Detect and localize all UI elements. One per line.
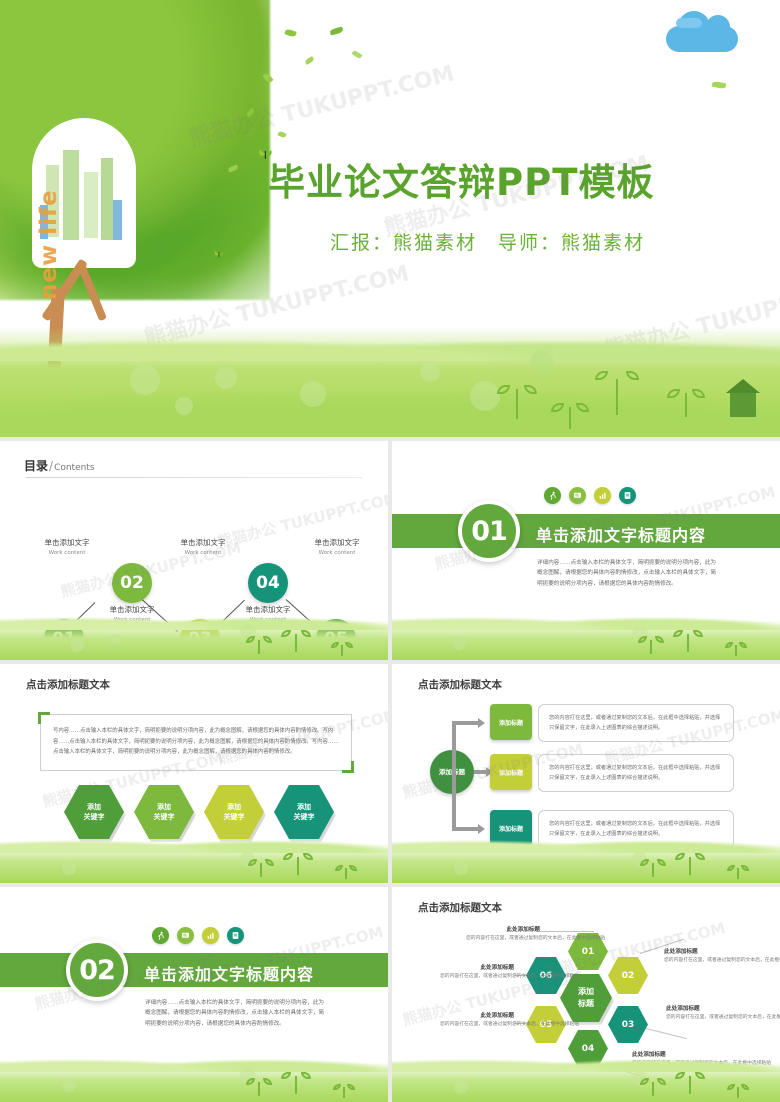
hexagon-line-2: 关键字 [154,812,175,823]
slide-branch-diagram[interactable]: 点击添加标题文本 添加标题 添加标题 添加标题 添加标题 您的内容打在这里，或者… [392,664,780,883]
sprout-icon [732,865,744,879]
step-label-sub: Work content [168,550,238,556]
step-label-sub: Work content [302,550,372,556]
trunk-word-art: new life [36,246,62,300]
grass-ground [0,1062,388,1102]
sprout-icon [288,630,304,652]
bar-chart-icon[interactable] [202,927,219,944]
grass-ground [392,843,780,883]
bokeh-circle [215,367,237,389]
sprout-icon [506,383,528,419]
grass-ground [392,1062,780,1102]
sprout-icon [340,865,352,879]
honeycomb-label-body: 您的内容打在这里，或者通过复制您的文本后，在此框中选择粘贴 [664,957,738,965]
building-shape [63,150,79,240]
honeycomb-cell-number: 01 [582,947,595,957]
ppt-template-preview-page: new life 毕业论文答辩PPT模板 汇报：熊猫素材 导师：熊猫素材 熊猫办… [0,0,780,1102]
divider-number: 01 [471,516,507,547]
branch-desc-text: 您的内容打在这里，或者通过复制您的文本后，在此框中选择粘贴，并选择只保留文字，在… [539,705,733,742]
honeycomb-cell-number: 04 [582,1044,595,1054]
bokeh-circle [454,1080,468,1094]
contents-heading-cn: 目录 [24,459,48,473]
contents-heading-separator: / [49,459,53,473]
bokeh-circle [452,636,466,650]
presentation-icon[interactable] [569,487,586,504]
sprout-icon [732,1084,744,1098]
divider-body-text: 详细内容……点击输入本栏的具体文字，简明扼要的说明分项内容，此为概念图解，请根据… [537,558,719,589]
honeycomb-cell-02[interactable]: 02 [608,957,648,994]
step-label-title: 单击添加文字 [302,537,372,548]
presentation-icon[interactable] [177,927,194,944]
divider-line [26,477,362,478]
contents-heading: 目录/Contents [24,455,95,474]
house-icon [730,391,756,417]
building-shape [84,172,98,238]
sprout-icon [646,1078,660,1096]
honeycomb-label-06: 此处添加标题 您的内容打在这里，或者通过复制您的文本后，在此框中选择粘贴 [428,963,514,981]
hexagon-line-2: 关键字 [224,812,245,823]
honeycomb-cell-number: 03 [622,1020,635,1030]
cloud-icon [666,26,738,52]
honeycomb-label-heading: 此处添加标题 [450,925,540,933]
sprout-icon [730,642,742,656]
sprout-icon [252,636,266,654]
hexagon-line-1: 添加 [224,802,245,813]
page-title: 点击添加标题文本 [418,677,502,692]
grass-ground [392,620,780,660]
divider-number: 02 [79,955,115,986]
grass-ground [0,843,388,883]
bokeh-circle [420,362,440,382]
sprout-icon [646,859,660,877]
step-label-01: 单击添加文字 Work content [32,537,102,556]
branch-tag-label: 添加标题 [499,718,523,727]
honeycomb-label-body: 您的内容打在这里，或者通过复制您的文本后，在此框中选择粘贴 [440,973,514,981]
honeycomb-label-heading: 此处添加标题 [664,947,752,955]
branch-desc-text: 您的内容打在这里，或者通过复制您的文本后，在此框中选择粘贴，并选择只保留文字，在… [539,755,733,792]
corner-accent [38,712,50,724]
branch-tag-1[interactable]: 添加标题 [490,704,532,740]
step-label-03: 单击添加文字 Work content [168,537,238,556]
corner-accent [342,761,354,773]
hexagon-line-1: 添加 [84,802,105,813]
icon-row [544,487,636,504]
hexagon-line-1: 添加 [154,802,175,813]
connector-branch [452,721,480,725]
honeycomb-center-line-2: 标题 [578,998,594,1010]
sprout-icon [680,630,696,652]
honeycomb-label-heading: 此处添加标题 [428,963,514,971]
page-title: 点击添加标题文本 [418,900,502,915]
slide-honeycomb[interactable]: 点击添加标题文本 添加标题 01 02 03 04 05 06 [392,887,780,1102]
step-number: 02 [120,573,144,593]
sprout-icon [604,371,630,415]
sprout-icon [682,1072,698,1094]
arrow-head-icon [478,718,485,728]
cloud-icon [676,18,702,28]
runner-icon[interactable] [544,487,561,504]
honeycomb-cell-03[interactable]: 03 [608,1006,648,1043]
honeycomb-center-line-1: 添加 [578,986,594,998]
divider-title: 单击添加文字标题内容 [536,522,706,546]
body-text: 写内容……点击输入本栏的具体文字，简明扼要的说明分项内容，此为概念图解，请根据您… [41,715,351,769]
page-title: 点击添加标题文本 [26,677,110,692]
bokeh-circle [530,351,554,375]
icon-row [152,927,244,944]
grass-ground [0,620,388,660]
building-shape [101,158,113,240]
step-label-title: 单击添加文字 [168,537,238,548]
branch-desc-1[interactable]: 您的内容打在这里，或者通过复制您的文本后，在此框中选择粘贴，并选择只保留文字，在… [538,704,734,742]
document-icon[interactable] [227,927,244,944]
sprout-icon [644,636,658,654]
honeycomb-label-02: 此处添加标题 您的内容打在这里，或者通过复制您的文本后，在此框中选择粘贴 [664,947,752,965]
bokeh-circle [470,381,500,411]
butterfly-icon [214,250,224,259]
step-circle-04[interactable]: 04 [248,563,288,603]
bokeh-circle [62,1078,76,1092]
sprout-icon [682,853,698,875]
body-textbox[interactable]: 写内容……点击输入本栏的具体文字，简明扼要的说明分项内容，此为概念图解，请根据您… [40,714,352,771]
bar-chart-icon[interactable] [594,487,611,504]
document-icon[interactable] [619,487,636,504]
step-circle-02[interactable]: 02 [112,563,152,603]
divider-number-badge: 02 [66,939,128,1001]
sprout-icon [336,642,348,656]
bokeh-circle [454,861,468,875]
slide-contents[interactable]: 目录/Contents 01 02 03 04 05 单击添加文字 Work c… [0,441,388,660]
bokeh-circle [130,365,160,395]
step-label-05: 单击添加文字 Work content [302,537,372,556]
page-subtitle: 汇报：熊猫素材 导师：熊猫素材 [330,228,645,255]
sprout-icon [290,853,306,875]
sprout-icon [252,1078,266,1096]
sprout-icon [288,1072,304,1094]
sprout-icon [254,859,268,877]
honeycomb-label-03: 此处添加标题 您的内容打在这里，或者通过复制您的文本后，在此框中选择粘贴 [666,1004,754,1022]
contents-heading-en: Contents [54,463,94,473]
connector-branch [452,827,480,831]
slide-divider-02[interactable]: 02 单击添加文字标题内容 详细内容……点击输入本栏的具体文字，简明扼要的说明分… [0,887,388,1102]
building-shape [113,200,122,240]
divider-body-text: 详细内容……点击输入本栏的具体文字，简明扼要的说明分项内容，此为概念图解，请根据… [145,998,327,1029]
honeycomb-label-body: 您的内容打在这里，或者通过复制您的文本后，在此框中选择粘贴 [666,1014,740,1022]
branch-desc-2[interactable]: 您的内容打在这里，或者通过复制您的文本后，在此框中选择粘贴，并选择只保留文字，在… [538,754,734,792]
slide-title[interactable]: new life 毕业论文答辩PPT模板 汇报：熊猫素材 导师：熊猫素材 熊猫办… [0,0,780,437]
honeycomb-label-01: 此处添加标题 您的内容打在这里，或者通过复制您的文本后，在此框中选择粘贴 [450,925,540,943]
honeycomb-label-heading: 此处添加标题 [428,1011,514,1019]
connector-spine [452,721,456,831]
bokeh-circle [62,861,76,875]
bokeh-circle [175,397,193,415]
branch-tag-label: 添加标题 [499,768,523,777]
hexagon-line-2: 关键字 [294,812,315,823]
arrow-head-icon [478,824,485,834]
honeycomb-label-05: 此处添加标题 您的内容打在这里，或者通过复制您的文本后，在此框中选择粘贴 [428,1011,514,1029]
branch-tag-2[interactable]: 添加标题 [490,754,532,790]
bokeh-circle [110,634,120,644]
runner-icon[interactable] [152,927,169,944]
bokeh-circle [300,381,326,407]
leader-line [540,931,594,932]
step-label-sub: Work content [32,550,102,556]
slide-divider-01[interactable]: 01 单击添加文字标题内容 详细内容……点击输入本栏的具体文字，简明扼要的说明分… [392,441,780,660]
sprout-icon [676,387,696,417]
hexagon-line-2: 关键字 [84,812,105,823]
branch-tag-label: 添加标题 [499,824,523,833]
leader-line [642,1027,687,1039]
hexagon-line-1: 添加 [294,802,315,813]
slide-keyword-hexagons[interactable]: 点击添加标题文本 写内容……点击输入本栏的具体文字，简明扼要的说明分项内容，此为… [0,664,388,883]
step-number: 04 [256,573,280,593]
sprout-icon [338,1084,350,1098]
honeycomb-cell-number: 02 [622,971,635,981]
divider-title: 单击添加文字标题内容 [144,961,314,985]
honeycomb-label-body: 您的内容打在这里，或者通过复制您的文本后，在此框中选择粘贴 [466,935,540,943]
divider-number-badge: 01 [458,500,520,562]
grass-ground [0,327,780,437]
bokeh-circle [70,638,84,652]
step-label-title: 单击添加文字 [32,537,102,548]
sprout-icon [560,401,580,429]
honeycomb-label-body: 您的内容打在这里，或者通过复制您的文本后，在此框中选择粘贴 [440,1021,514,1029]
page-title: 毕业论文答辩PPT模板 [268,152,654,206]
honeycomb-label-heading: 此处添加标题 [666,1004,754,1012]
